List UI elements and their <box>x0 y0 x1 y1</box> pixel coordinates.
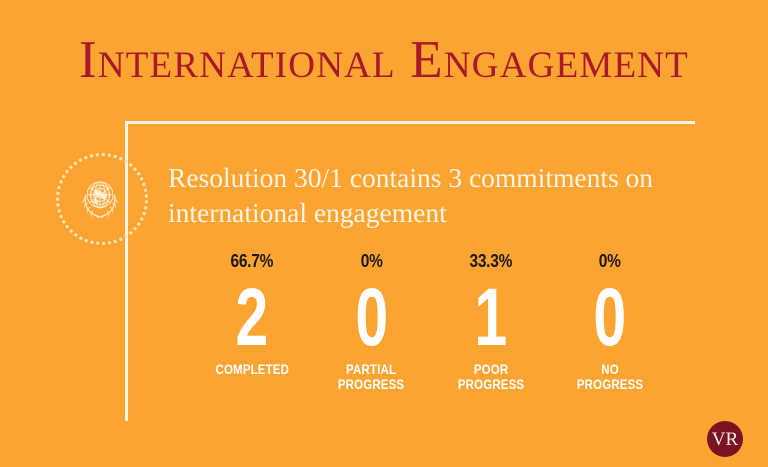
infographic-canvas: International Engagement <box>0 0 768 467</box>
stat-percent-partial-progress: 0% <box>360 252 382 272</box>
stat-percent-completed: 66.7% <box>231 252 274 272</box>
stat-partial-progress: 0% 0 Partial Progress <box>315 252 427 392</box>
headline-text: Resolution 30/1 contains 3 commitments o… <box>168 160 708 230</box>
stat-count-poor-progress: 1 <box>474 280 507 356</box>
stat-percent-poor-progress: 33.3% <box>469 252 512 272</box>
stat-poor-progress: 33.3% 1 Poor Progress <box>435 252 547 392</box>
brand-badge: VR <box>707 421 743 457</box>
stat-percent-no-progress: 0% <box>599 252 621 272</box>
brand-initials: VR <box>712 430 738 449</box>
stat-label-partial-progress: Partial Progress <box>338 362 404 392</box>
stat-completed: 66.7% 2 Completed <box>196 252 308 377</box>
stat-count-partial-progress: 0 <box>355 280 388 356</box>
frame-rule-horizontal <box>125 121 695 124</box>
stat-no-progress: 0% 0 No Progress <box>554 252 666 392</box>
stat-label-completed: Completed <box>215 362 289 377</box>
stat-label-no-progress: No Progress <box>577 362 643 392</box>
stat-label-poor-progress: Poor Progress <box>457 362 523 392</box>
un-emblem <box>56 153 146 243</box>
stat-count-completed: 2 <box>236 280 269 356</box>
page-title: International Engagement <box>0 33 768 89</box>
stat-count-no-progress: 0 <box>594 280 627 356</box>
united-nations-emblem-icon <box>73 170 127 224</box>
stats-row: 66.7% 2 Completed 0% 0 Partial Progress … <box>196 252 666 412</box>
